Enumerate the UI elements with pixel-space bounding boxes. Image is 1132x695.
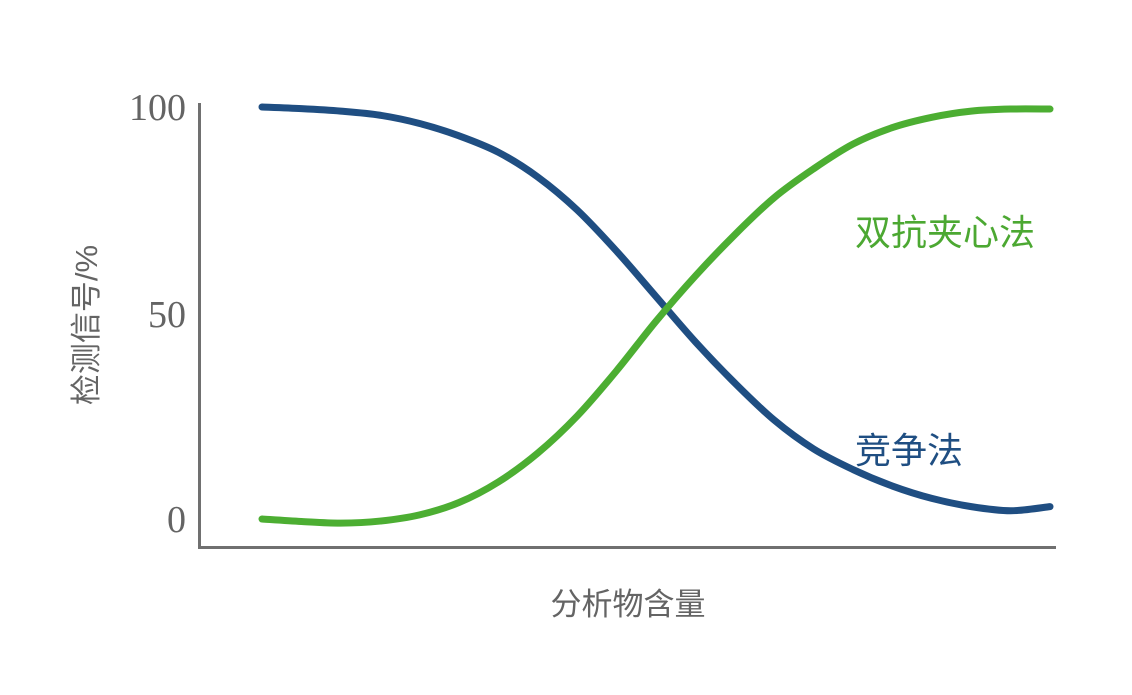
chart-svg: 100 50 0 检测信号/% 分析物含量 双抗夹心法 竞争法 <box>0 0 1132 695</box>
y-axis-title: 检测信号/% <box>69 245 104 405</box>
y-tick-label-50: 50 <box>148 294 186 336</box>
y-tick-label-100: 100 <box>129 87 186 129</box>
y-tick-label-0: 0 <box>167 499 186 541</box>
x-axis-title: 分析物含量 <box>551 587 706 622</box>
chart-container: 100 50 0 检测信号/% 分析物含量 双抗夹心法 竞争法 <box>0 0 1132 695</box>
series-label-competitive: 竞争法 <box>855 430 963 471</box>
series-label-sandwich: 双抗夹心法 <box>855 212 1035 253</box>
